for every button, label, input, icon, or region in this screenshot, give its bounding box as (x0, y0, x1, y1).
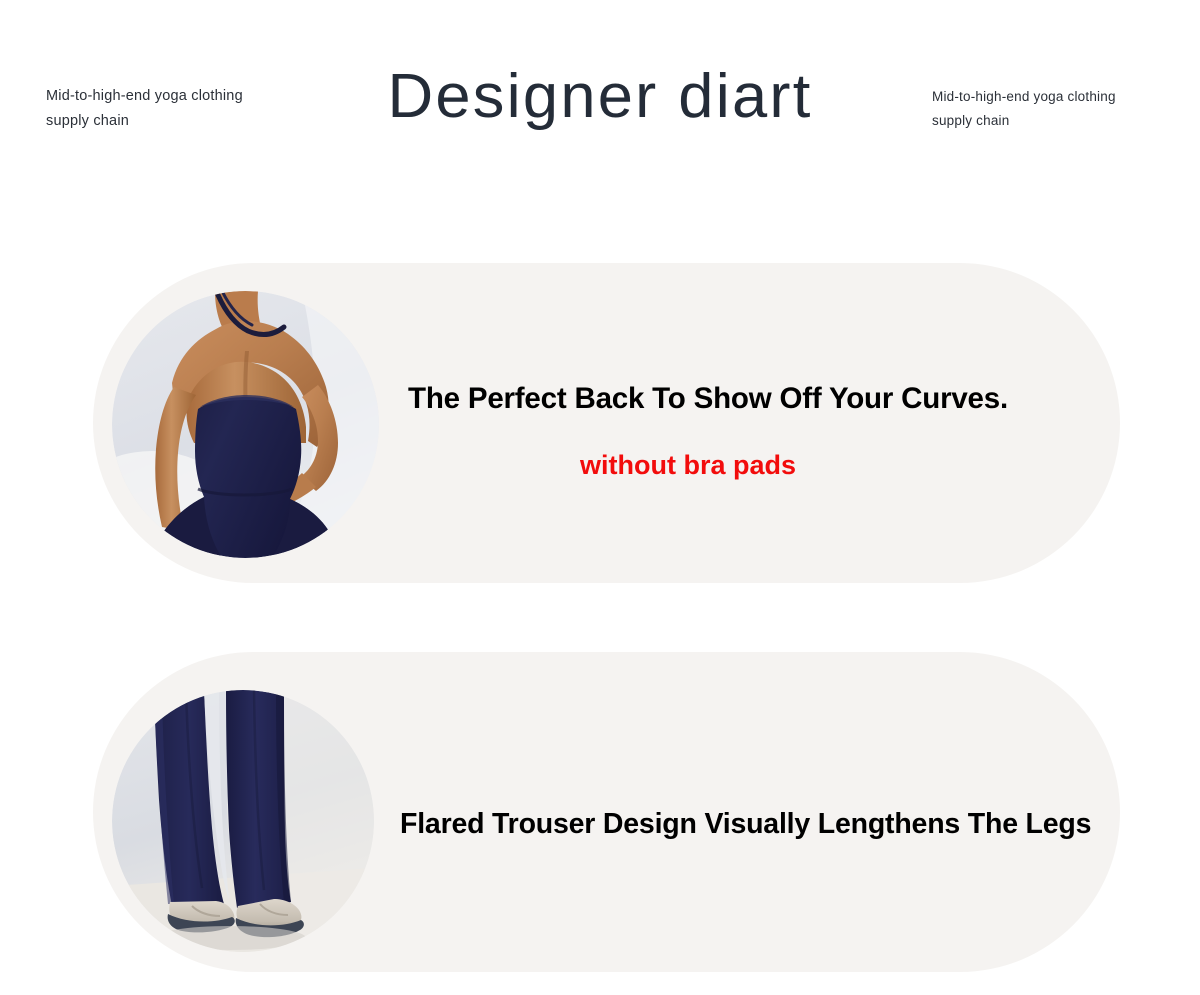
card-two-headline: Flared Trouser Design Visually Lengthens… (386, 805, 1126, 843)
promo-page: Mid-to-high-end yoga clothing supply cha… (0, 0, 1200, 995)
tagline-right: Mid-to-high-end yoga clothing supply cha… (932, 85, 1116, 133)
woman-back-navy-halter-top-photo (112, 291, 379, 558)
card-one-text-block: The Perfect Back To Show Off Your Curves… (392, 380, 1120, 483)
navy-flared-trousers-sneakers-photo (112, 690, 374, 952)
page-header: Mid-to-high-end yoga clothing supply cha… (0, 0, 1200, 185)
card-one-headline: The Perfect Back To Show Off Your Curves… (392, 380, 1120, 418)
card-one-subline: without bra pads (392, 447, 1120, 483)
card-two-text-block: Flared Trouser Design Visually Lengthens… (386, 805, 1126, 843)
